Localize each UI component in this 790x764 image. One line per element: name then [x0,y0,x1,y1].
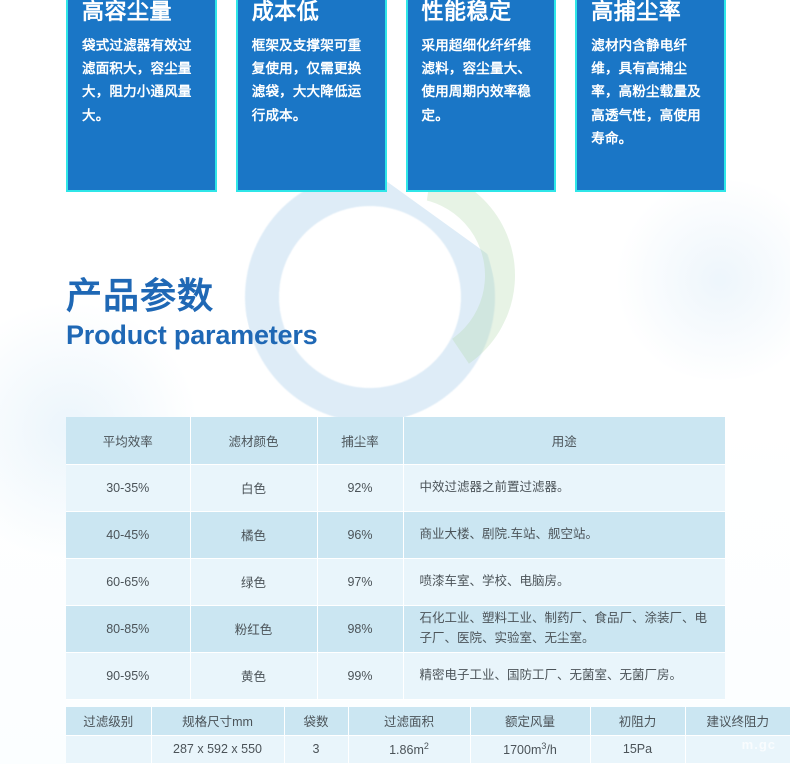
cell-media-color: 绿色 [190,558,317,605]
cell-application: 中效过滤器之前置过滤器。 [403,464,725,511]
table-header-row: 平均效率 滤材颜色 捕尘率 用途 [66,417,725,464]
column-header-application: 用途 [403,417,725,464]
table-row: 60-65% 绿色 97% 喷漆车室、学校、电脑房。 [66,558,725,605]
cell-application: 商业大楼、剧院.车站、舰空站。 [403,511,725,558]
cell-media-color: 橘色 [190,511,317,558]
column-header-dust-capture-rate: 捕尘率 [317,417,403,464]
section-heading: 产品参数 Product parameters [66,277,318,350]
table-row: 40-45% 橘色 96% 商业大楼、剧院.车站、舰空站。 [66,511,725,558]
cell-bag-count: 3 [284,735,348,763]
specification-table: 过滤级别 规格尺寸mm 袋数 过滤面积 额定风量 初阻力 建议终阻力 287 x… [66,707,790,764]
table-row: 90-95% 黄色 99% 精密电子工业、国防工厂、无菌室、无菌厂房。 [66,652,725,699]
cell-application: 石化工业、塑料工业、制药厂、食品厂、涂装厂、电子厂、医院、实验室、无尘室。 [403,605,725,652]
spec-row: 287 x 592 x 550 3 1.86m2 1700m3/h 15Pa [66,735,790,763]
feature-card-title: 性能稳定 [422,0,512,25]
cell-efficiency: 60-65% [66,558,190,605]
cell-filter-grade [66,735,151,763]
column-header-efficiency: 平均效率 [66,417,190,464]
cell-application: 喷漆车室、学校、电脑房。 [403,558,725,605]
cell-efficiency: 90-95% [66,652,190,699]
cell-dust-capture-rate: 99% [317,652,403,699]
feature-card-description: 采用超细化纤纤维滤料，容尘量大、使用周期内效率稳定。 [422,34,541,127]
background-glow-top-right [610,180,790,380]
filter-area-unit: m [413,743,423,757]
cell-filter-area: 1.86m2 [348,735,470,763]
airflow-per-hour: /h [546,743,556,757]
column-header-filter-grade: 过滤级别 [66,707,151,735]
section-title-cn: 产品参数 [66,277,318,315]
column-header-filter-area: 过滤面积 [348,707,470,735]
feature-card-title: 高捕尘率 [591,0,681,25]
table-row: 30-35% 白色 92% 中效过滤器之前置过滤器。 [66,464,725,511]
column-header-rated-airflow: 额定风量 [470,707,590,735]
column-header-final-resistance: 建议终阻力 [685,707,790,735]
feature-cards: 01 高容尘量 袋式过滤器有效过滤面积大，容尘量大，阻力小通风量大。 02 成本… [66,0,726,192]
section-title-en: Product parameters [66,321,318,351]
column-header-initial-resistance: 初阻力 [590,707,685,735]
cell-media-color: 黄色 [190,652,317,699]
feature-card-description: 框架及支撑架可重复使用，仅需更换滤袋，大大降低运行成本。 [252,34,371,127]
cell-dimensions: 287 x 592 x 550 [151,735,284,763]
filter-area-value: 1.86 [389,743,413,757]
feature-card-title: 成本低 [252,0,320,25]
cell-application: 精密电子工业、国防工厂、无菌室、无菌厂房。 [403,652,725,699]
cell-final-resistance [685,735,790,763]
feature-card-03: 03 性能稳定 采用超细化纤纤维滤料，容尘量大、使用周期内效率稳定。 [406,0,557,192]
cell-efficiency: 30-35% [66,464,190,511]
table-row: 80-85% 粉红色 98% 石化工业、塑料工业、制药厂、食品厂、涂装厂、电子厂… [66,605,725,652]
cell-dust-capture-rate: 97% [317,558,403,605]
cell-dust-capture-rate: 96% [317,511,403,558]
airflow-value: 1700 [503,743,531,757]
cell-media-color: 白色 [190,464,317,511]
column-header-bag-count: 袋数 [284,707,348,735]
column-header-media-color: 滤材颜色 [190,417,317,464]
feature-card-description: 滤材内含静电纤维，具有高捕尘率，高粉尘载量及高透气性，高使用寿命。 [591,34,710,150]
cell-efficiency: 80-85% [66,605,190,652]
cell-initial-resistance: 15Pa [590,735,685,763]
feature-card-title: 高容尘量 [82,0,172,25]
feature-card-01: 01 高容尘量 袋式过滤器有效过滤面积大，容尘量大，阻力小通风量大。 [66,0,217,192]
cell-dust-capture-rate: 92% [317,464,403,511]
product-parameters-page: 01 高容尘量 袋式过滤器有效过滤面积大，容尘量大，阻力小通风量大。 02 成本… [0,0,790,764]
cell-efficiency: 40-45% [66,511,190,558]
filter-area-exponent: 2 [424,741,429,751]
feature-card-description: 袋式过滤器有效过滤面积大，容尘量大，阻力小通风量大。 [82,34,201,127]
feature-card-04: 04 高捕尘率 滤材内含静电纤维，具有高捕尘率，高粉尘载量及高透气性，高使用寿命… [575,0,726,192]
efficiency-table: 平均效率 滤材颜色 捕尘率 用途 30-35% 白色 92% 中效过滤器之前置过… [66,417,725,700]
spec-header-row: 过滤级别 规格尺寸mm 袋数 过滤面积 额定风量 初阻力 建议终阻力 [66,707,790,735]
column-header-dimensions: 规格尺寸mm [151,707,284,735]
cell-media-color: 粉红色 [190,605,317,652]
feature-card-02: 02 成本低 框架及支撑架可重复使用，仅需更换滤袋，大大降低运行成本。 [236,0,387,192]
cell-rated-airflow: 1700m3/h [470,735,590,763]
airflow-unit: m [531,743,541,757]
cell-dust-capture-rate: 98% [317,605,403,652]
